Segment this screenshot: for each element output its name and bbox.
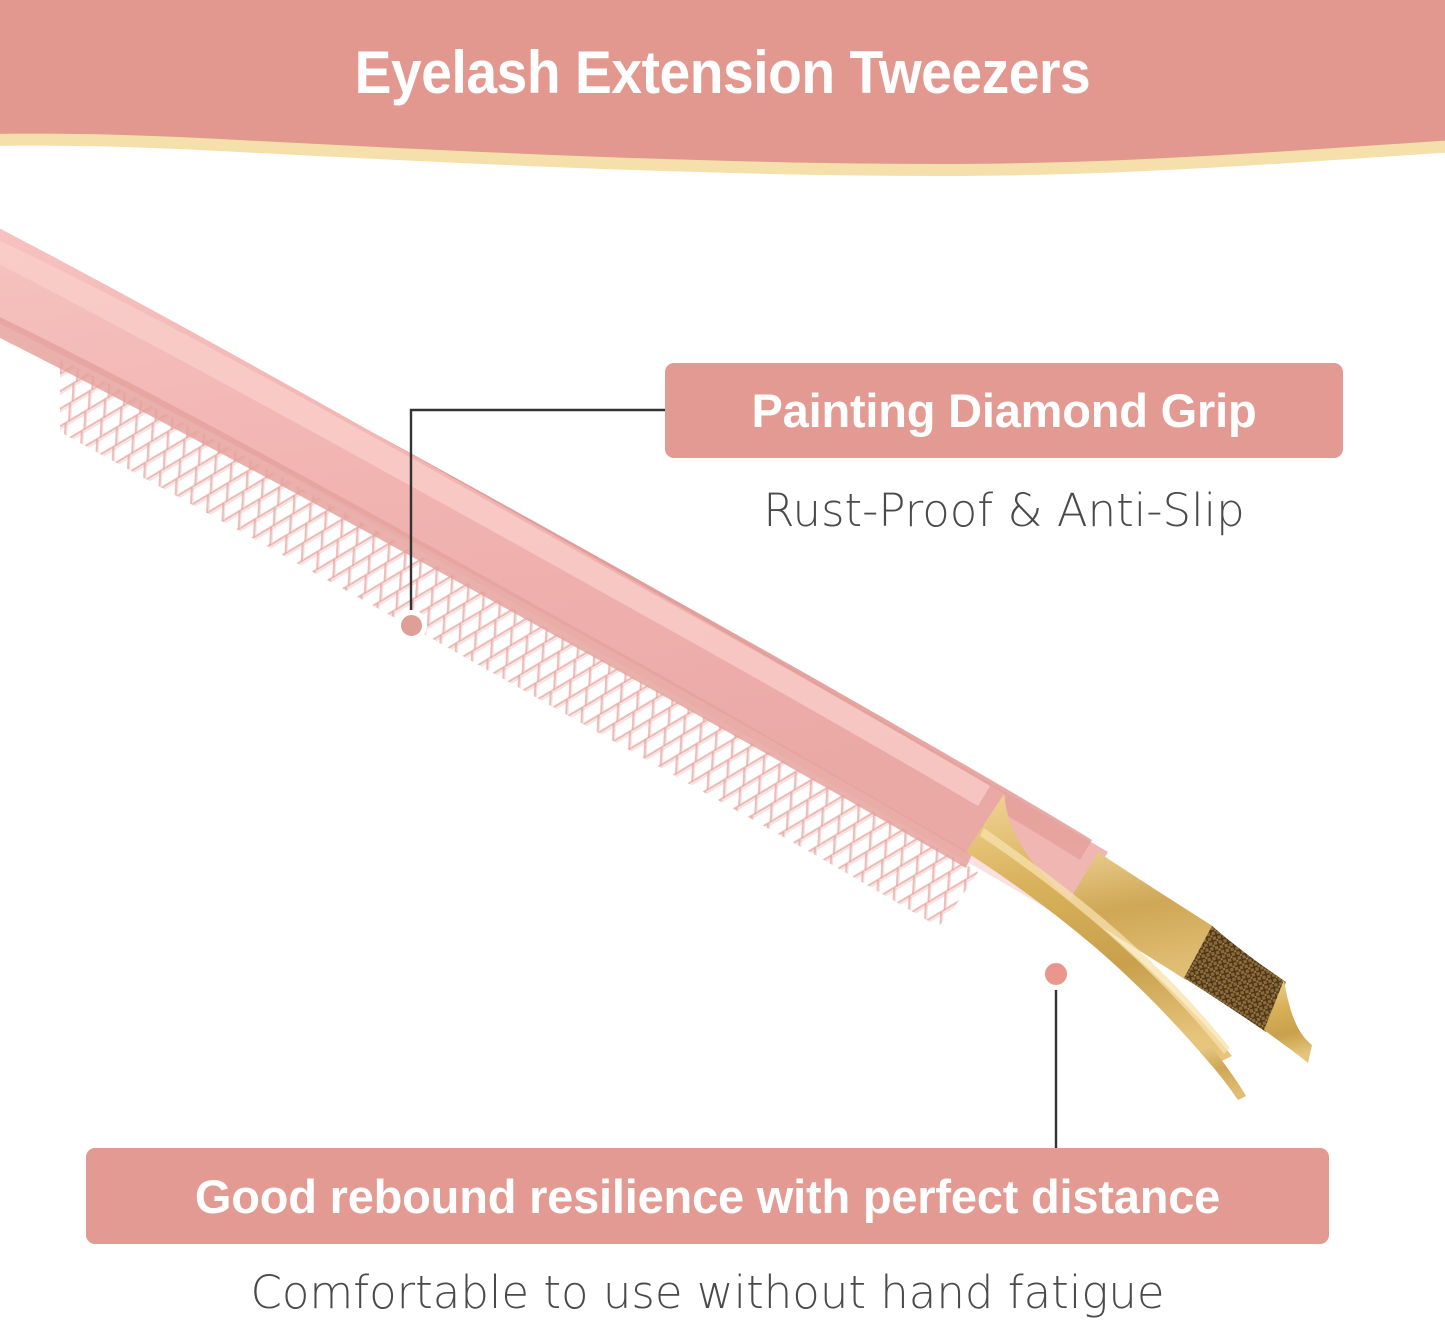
callout-subcaption-rebound: Comfortable to use without hand fatigue <box>86 1265 1329 1321</box>
infographic-page: Eyelash Extension Tweezers <box>0 0 1445 1328</box>
callout-marker-rebound-icon[interactable] <box>1040 958 1072 990</box>
callout-badge-rebound[interactable]: Good rebound resilience with perfect dis… <box>86 1148 1329 1244</box>
callout-marker-grip-icon[interactable] <box>396 610 427 641</box>
tweezer-lower-arm <box>0 208 1008 928</box>
product-image <box>0 200 1445 1150</box>
header-banner: Eyelash Extension Tweezers <box>0 0 1445 200</box>
page-title: Eyelash Extension Tweezers <box>58 36 1387 110</box>
tweezers-illustration <box>0 200 1445 1150</box>
callout-badge-grip[interactable]: Painting Diamond Grip <box>665 363 1343 458</box>
